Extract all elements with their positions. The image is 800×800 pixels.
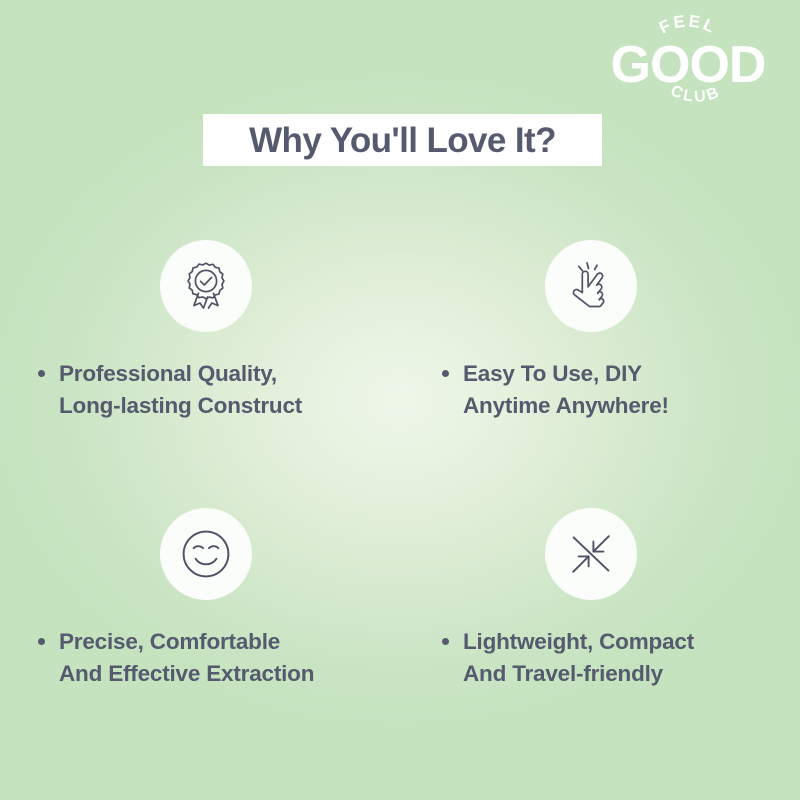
relaxed-face-icon — [179, 527, 233, 581]
feature-item-easy-to-use: Easy To Use, DIY Anytime Anywhere! — [420, 240, 790, 422]
feature-line-2: Anytime Anywhere! — [463, 390, 669, 422]
feature-text: Professional Quality, Long-lasting Const… — [20, 358, 390, 422]
feature-item-professional-quality: Professional Quality, Long-lasting Const… — [20, 240, 390, 422]
feature-line-1: Easy To Use, DIY — [463, 358, 669, 390]
page-title: Why You'll Love It? — [249, 123, 556, 158]
bullet-dot — [38, 638, 45, 645]
feature-icon-wrapper — [160, 240, 252, 332]
logo-good-text: GOOD — [611, 36, 766, 94]
feature-icon-wrapper — [545, 508, 637, 600]
feature-line-1: Lightweight, Compact — [463, 626, 694, 658]
snapping-hand-icon — [564, 259, 618, 313]
award-ribbon-icon — [179, 259, 233, 313]
feature-text: Lightweight, Compact And Travel-friendly — [420, 626, 790, 690]
bullet-dot — [442, 370, 449, 377]
feature-text: Easy To Use, DIY Anytime Anywhere! — [420, 358, 790, 422]
feature-line-1: Professional Quality, — [59, 358, 302, 390]
feature-text: Precise, Comfortable And Effective Extra… — [20, 626, 390, 690]
feature-line-2: Long-lasting Construct — [59, 390, 302, 422]
promo-poster: FEEL GOOD CLUB Why You'll Love It? — [0, 0, 800, 800]
bullet-dot — [442, 638, 449, 645]
feature-item-lightweight-compact: Lightweight, Compact And Travel-friendly — [420, 508, 790, 690]
feature-line-1: Precise, Comfortable — [59, 626, 314, 658]
feature-icon-wrapper — [545, 240, 637, 332]
bullet-dot — [38, 370, 45, 377]
logo-feel-text: FEEL — [656, 11, 720, 37]
compress-arrows-icon — [564, 527, 618, 581]
feature-item-precise-comfortable: Precise, Comfortable And Effective Extra… — [20, 508, 390, 690]
feature-line-2: And Travel-friendly — [463, 658, 694, 690]
feature-line-2: And Effective Extraction — [59, 658, 314, 690]
title-banner: Why You'll Love It? — [203, 114, 602, 166]
feel-good-club-logo: FEEL GOOD CLUB — [598, 8, 778, 112]
feature-icon-wrapper — [160, 508, 252, 600]
